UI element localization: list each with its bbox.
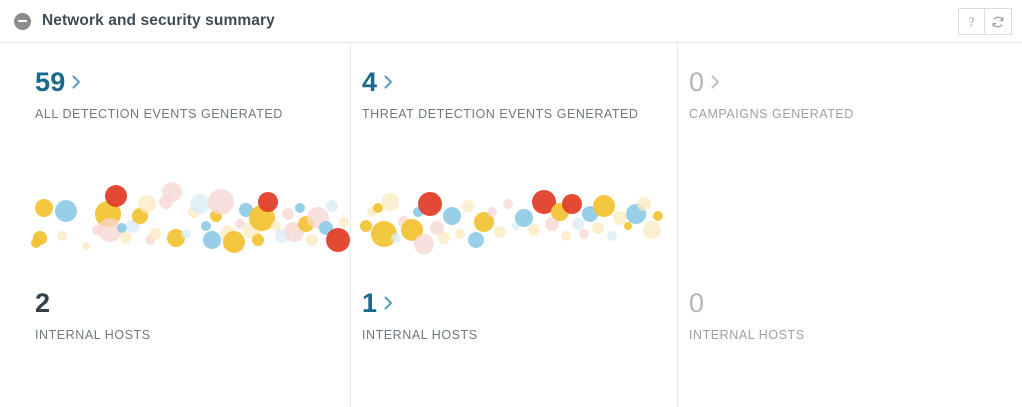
help-button[interactable]: ? (958, 8, 985, 35)
chevron-right-icon[interactable] (384, 75, 393, 89)
metric-value-row: 0 (689, 67, 854, 97)
metric-value: 2 (35, 290, 50, 317)
header-actions: ? (958, 8, 1012, 35)
refresh-button[interactable] (985, 8, 1012, 35)
chevron-right-icon[interactable] (384, 296, 393, 310)
chevron-right-icon[interactable] (72, 75, 81, 89)
refresh-icon (991, 15, 1005, 29)
metric-value[interactable]: 59 (35, 69, 65, 96)
metric-label: INTERNAL HOSTS (689, 328, 805, 342)
summary-column-all-detection-events: 59 ALL DETECTION EVENTS GENERATED 2 INTE… (0, 43, 350, 407)
minus-bar (18, 20, 27, 23)
metric-label: INTERNAL HOSTS (35, 328, 151, 342)
page-title: Network and security summary (42, 12, 275, 30)
metric-label: INTERNAL HOSTS (362, 328, 478, 342)
metric-label: ALL DETECTION EVENTS GENERATED (35, 107, 283, 121)
metric-internal-hosts-col0: 2 INTERNAL HOSTS (35, 288, 151, 342)
metric-all-detection-events[interactable]: 59 ALL DETECTION EVENTS GENERATED (35, 67, 283, 121)
metric-value: 0 (689, 69, 704, 96)
metric-threat-detection-events[interactable]: 4 THREAT DETECTION EVENTS GENERATED (362, 67, 639, 121)
question-mark-icon: ? (969, 15, 975, 28)
summary-column-threat-detection-events: 4 THREAT DETECTION EVENTS GENERATED 1 IN… (350, 43, 677, 407)
metric-value-row: 4 (362, 67, 639, 97)
panel-header: Network and security summary ? (0, 0, 1022, 43)
metric-value: 0 (689, 290, 704, 317)
metric-label: CAMPAIGNS GENERATED (689, 107, 854, 121)
metric-label: THREAT DETECTION EVENTS GENERATED (362, 107, 639, 121)
metric-campaigns-generated[interactable]: 0 CAMPAIGNS GENERATED (689, 67, 854, 121)
chevron-right-icon[interactable] (711, 75, 720, 89)
metric-value[interactable]: 4 (362, 69, 377, 96)
metric-value-row: 0 (689, 288, 805, 318)
metric-value-row: 59 (35, 67, 283, 97)
summary-column-campaigns: 0 CAMPAIGNS GENERATED 0 INTERNAL HOSTS (677, 43, 1022, 407)
metric-value-row: 1 (362, 288, 478, 318)
metric-value-row: 2 (35, 288, 151, 318)
metric-internal-hosts-col1[interactable]: 1 INTERNAL HOSTS (362, 288, 478, 342)
minus-circle-icon[interactable] (14, 13, 31, 30)
panel-body: 59 ALL DETECTION EVENTS GENERATED 2 INTE… (0, 43, 1022, 407)
metric-internal-hosts-col2: 0 INTERNAL HOSTS (689, 288, 805, 342)
network-security-summary-panel: Network and security summary ? (0, 0, 1022, 407)
metric-value[interactable]: 1 (362, 290, 377, 317)
